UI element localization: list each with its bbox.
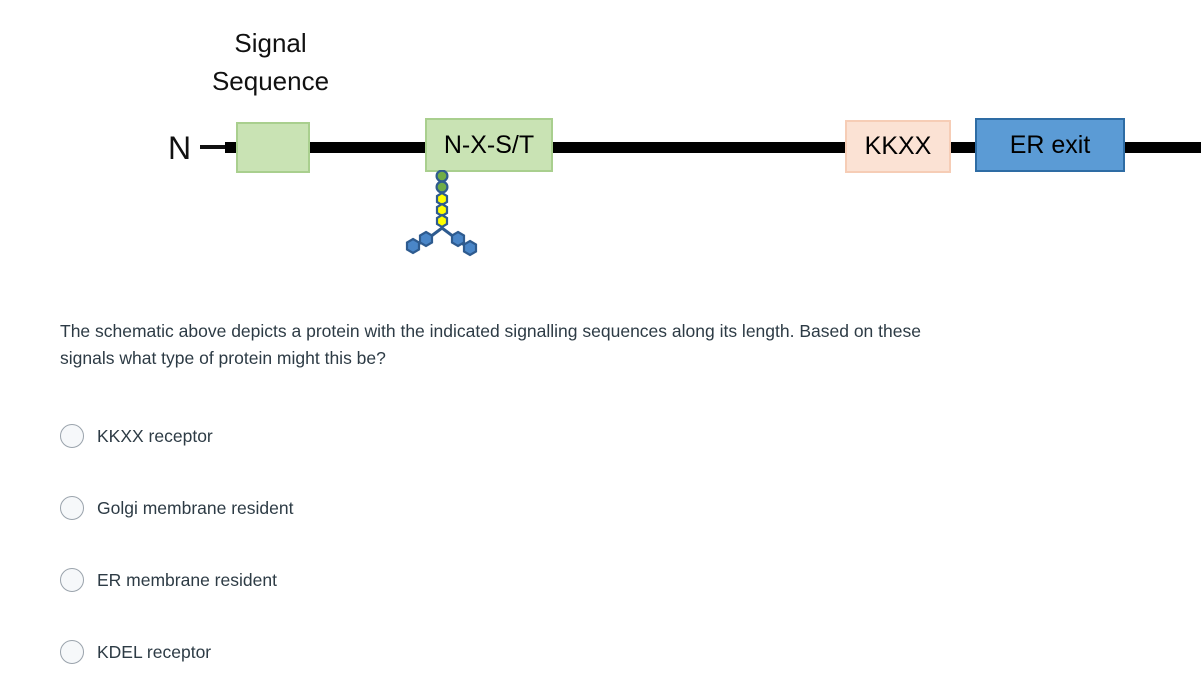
answer-option-label: Golgi membrane resident [97, 496, 293, 520]
answer-option-2[interactable]: Golgi membrane resident [60, 484, 860, 532]
glycosylation-site-box: N-X-S/T [425, 118, 553, 172]
answer-options-list: KKXX receptor Golgi membrane resident ER… [60, 412, 860, 681]
answer-option-label: KKXX receptor [97, 424, 213, 448]
question-prompt-text: The schematic above depicts a protein wi… [60, 318, 965, 372]
radio-button-icon[interactable] [60, 568, 84, 592]
answer-option-1[interactable]: KKXX receptor [60, 412, 860, 460]
radio-button-icon[interactable] [60, 496, 84, 520]
radio-button-icon[interactable] [60, 424, 84, 448]
radio-button-icon[interactable] [60, 640, 84, 664]
signal-sequence-box [236, 122, 310, 173]
quiz-question-page: Signal Sequence N N-X-S/T KKXX ER exit [0, 0, 1201, 681]
n-terminus-label: N [168, 122, 191, 174]
signal-sequence-label: Signal Sequence [183, 24, 358, 100]
protein-schematic-diagram: Signal Sequence N N-X-S/T KKXX ER exit [0, 0, 1201, 300]
n-linked-glycan-tree-icon [404, 170, 480, 260]
answer-option-label: KDEL receptor [97, 640, 211, 664]
er-exit-box: ER exit [975, 118, 1125, 172]
answer-option-4[interactable]: KDEL receptor [60, 628, 860, 676]
answer-option-label: ER membrane resident [97, 568, 277, 592]
answer-option-3[interactable]: ER membrane resident [60, 556, 860, 604]
kkxx-motif-box: KKXX [845, 120, 951, 173]
